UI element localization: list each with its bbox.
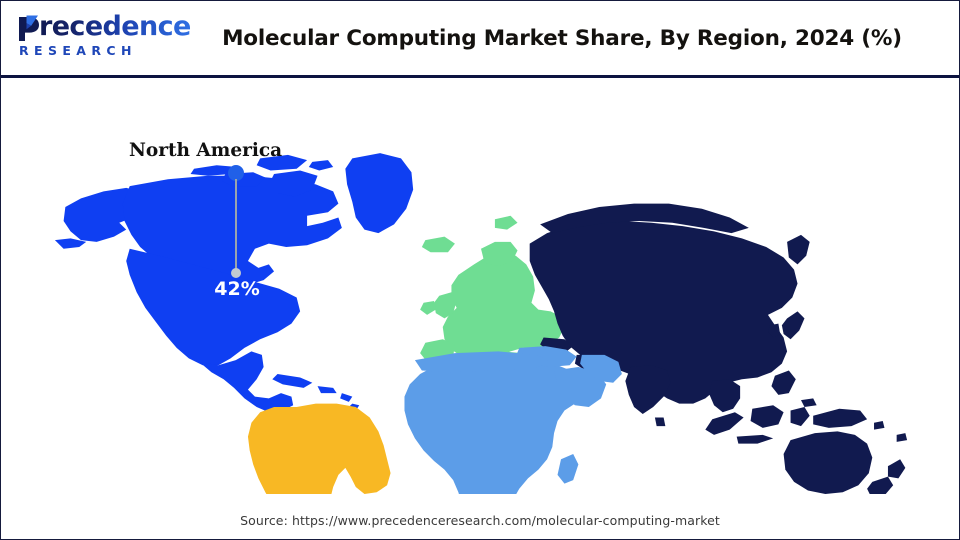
shape-sumatra[interactable]: [705, 412, 743, 435]
shape-india[interactable]: [625, 365, 670, 414]
shape-philippines[interactable]: [771, 371, 795, 395]
shape-borneo[interactable]: [751, 405, 784, 428]
precedence-research-logo: recedence RESEARCH: [17, 12, 177, 64]
logo-subtitle: RESEARCH: [19, 43, 137, 58]
shape-south-america[interactable]: [248, 404, 391, 494]
shape-sri-lanka[interactable]: [655, 417, 665, 426]
page-title: Molecular Computing Market Share, By Reg…: [177, 1, 947, 75]
footer-bar: Source: https://www.precedenceresearch.c…: [1, 501, 959, 539]
logo-wordmark: recedence: [39, 12, 191, 42]
shape-australia[interactable]: [784, 431, 873, 494]
infographic-card: recedence RESEARCH Molecular Computing M…: [0, 0, 960, 540]
shape-moluccas[interactable]: [801, 398, 817, 407]
shape-sulawesi[interactable]: [791, 407, 810, 426]
shape-new-guinea[interactable]: [813, 409, 867, 428]
shape-kamchatka[interactable]: [787, 235, 810, 265]
shape-new-zealand-north[interactable]: [888, 459, 905, 478]
shape-pacific-islets-b[interactable]: [897, 433, 907, 442]
shape-new-zealand-south[interactable]: [867, 477, 893, 494]
shape-japan[interactable]: [782, 311, 805, 339]
source-link[interactable]: Source: https://www.precedenceresearch.c…: [240, 513, 720, 528]
shape-indochina[interactable]: [709, 379, 740, 412]
world-map-svg: [41, 94, 921, 494]
shape-madagascar[interactable]: [558, 454, 579, 484]
shape-svalbard[interactable]: [495, 216, 518, 230]
world-map-panel: North America 42%: [1, 80, 959, 500]
shape-pacific-islets[interactable]: [874, 421, 884, 430]
header-bar: recedence RESEARCH Molecular Computing M…: [1, 1, 959, 78]
shape-java[interactable]: [737, 435, 774, 444]
